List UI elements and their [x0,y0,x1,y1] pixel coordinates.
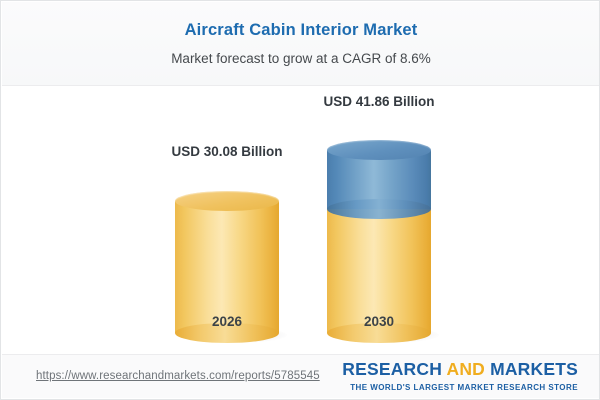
chart-card: Aircraft Cabin Interior Market Market fo… [0,0,600,400]
logo-markets-text: MARKETS [490,359,578,379]
logo-wordmark: RESEARCH AND MARKETS [342,361,578,379]
bar-category-label-2030: 2030 [299,314,459,329]
logo-tagline: THE WORLD'S LARGEST MARKET RESEARCH STOR… [342,384,578,392]
chart-footer: https://www.researchandmarkets.com/repor… [2,354,600,398]
bar-top-cap-2030 [327,140,431,160]
bar-value-label-2030: USD 41.86 Billion [299,94,459,109]
logo-research-text: RESEARCH [342,359,442,379]
source-url-link[interactable]: https://www.researchandmarkets.com/repor… [36,370,320,382]
bar-segment-growth-2030 [327,150,431,209]
research-and-markets-logo: RESEARCH AND MARKETS THE WORLD'S LARGEST… [342,361,578,392]
chart-subtitle: Market forecast to grow at a CAGR of 8.6… [2,40,600,66]
bar-joint-cap-2030 [327,199,431,219]
bar-group-2030: USD 41.86 Billion 2030 [299,86,459,355]
bar-category-label-2026: 2026 [147,314,307,329]
logo-and-text: AND [446,359,485,379]
page-title: Aircraft Cabin Interior Market [2,2,600,40]
chart-plot-area: USD 30.08 Billion 2026 USD 41.86 Billion [2,86,600,355]
chart-header: Aircraft Cabin Interior Market Market fo… [2,2,600,86]
bar-group-2026: USD 30.08 Billion 2026 [147,86,307,355]
bar-value-label-2026: USD 30.08 Billion [147,144,307,159]
bar-top-cap-2026 [175,191,279,211]
